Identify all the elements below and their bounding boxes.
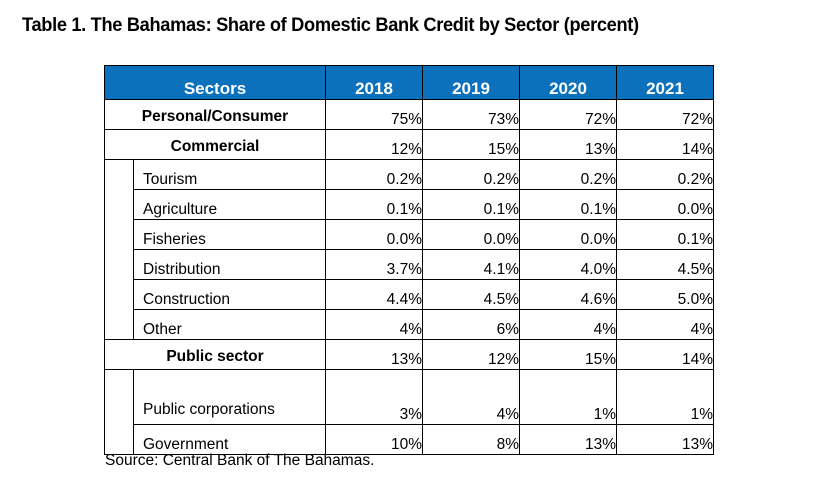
cell-other-2021: 4% (617, 310, 714, 340)
cell-government-2021: 13% (617, 425, 714, 455)
cell-public-corporations-2020: 1% (520, 370, 617, 425)
source-note: Source: Central Bank of The Bahamas. (105, 452, 374, 470)
cell-personal-consumer-2021: 72% (617, 100, 714, 130)
table-row: Public sector 13% 12% 15% 14% (105, 340, 714, 370)
table-row: Public corporations 3% 4% 1% 1% (105, 370, 714, 425)
cell-government-2019: 8% (423, 425, 520, 455)
cell-government-2018: 10% (326, 425, 423, 455)
table-row: Tourism 0.2% 0.2% 0.2% 0.2% (105, 160, 714, 190)
row-label-commercial: Commercial (105, 130, 326, 160)
row-label-fisheries: Fisheries (134, 220, 326, 250)
cell-agriculture-2020: 0.1% (520, 190, 617, 220)
cell-other-2019: 6% (423, 310, 520, 340)
cell-public-sector-2020: 15% (520, 340, 617, 370)
row-label-distribution: Distribution (134, 250, 326, 280)
cell-tourism-2019: 0.2% (423, 160, 520, 190)
column-header-2018: 2018 (326, 66, 423, 100)
cell-personal-consumer-2020: 72% (520, 100, 617, 130)
row-label-personal-consumer: Personal/Consumer (105, 100, 326, 130)
cell-construction-2019: 4.5% (423, 280, 520, 310)
cell-commercial-2020: 13% (520, 130, 617, 160)
cell-fisheries-2019: 0.0% (423, 220, 520, 250)
row-label-government: Government (134, 425, 326, 455)
commercial-indent-spacer (105, 160, 134, 340)
cell-commercial-2019: 15% (423, 130, 520, 160)
cell-tourism-2020: 0.2% (520, 160, 617, 190)
table-body: Personal/Consumer 75% 73% 72% 72% Commer… (105, 100, 714, 455)
credit-table-container: Sectors 2018 2019 2020 2021 Personal/Con… (104, 65, 713, 455)
cell-construction-2021: 5.0% (617, 280, 714, 310)
cell-distribution-2019: 4.1% (423, 250, 520, 280)
table-row: Commercial 12% 15% 13% 14% (105, 130, 714, 160)
cell-public-sector-2021: 14% (617, 340, 714, 370)
table-header: Sectors 2018 2019 2020 2021 (105, 66, 714, 100)
cell-fisheries-2018: 0.0% (326, 220, 423, 250)
cell-tourism-2018: 0.2% (326, 160, 423, 190)
cell-distribution-2020: 4.0% (520, 250, 617, 280)
cell-distribution-2021: 4.5% (617, 250, 714, 280)
cell-commercial-2021: 14% (617, 130, 714, 160)
header-row: Sectors 2018 2019 2020 2021 (105, 66, 714, 100)
cell-public-corporations-2018: 3% (326, 370, 423, 425)
public-sector-indent-spacer (105, 370, 134, 455)
column-header-2019: 2019 (423, 66, 520, 100)
cell-distribution-2018: 3.7% (326, 250, 423, 280)
cell-agriculture-2019: 0.1% (423, 190, 520, 220)
cell-fisheries-2020: 0.0% (520, 220, 617, 250)
cell-tourism-2021: 0.2% (617, 160, 714, 190)
row-label-agriculture: Agriculture (134, 190, 326, 220)
row-label-public-sector: Public sector (105, 340, 326, 370)
table-row: Personal/Consumer 75% 73% 72% 72% (105, 100, 714, 130)
row-label-other: Other (134, 310, 326, 340)
table-row: Agriculture 0.1% 0.1% 0.1% 0.0% (105, 190, 714, 220)
table-row: Fisheries 0.0% 0.0% 0.0% 0.1% (105, 220, 714, 250)
cell-public-sector-2018: 13% (326, 340, 423, 370)
table-row: Distribution 3.7% 4.1% 4.0% 4.5% (105, 250, 714, 280)
cell-public-sector-2019: 12% (423, 340, 520, 370)
table-row: Construction 4.4% 4.5% 4.6% 5.0% (105, 280, 714, 310)
cell-construction-2020: 4.6% (520, 280, 617, 310)
cell-agriculture-2018: 0.1% (326, 190, 423, 220)
cell-agriculture-2021: 0.0% (617, 190, 714, 220)
cell-fisheries-2021: 0.1% (617, 220, 714, 250)
table-row: Government 10% 8% 13% 13% (105, 425, 714, 455)
page-title: Table 1. The Bahamas: Share of Domestic … (22, 14, 639, 37)
cell-personal-consumer-2018: 75% (326, 100, 423, 130)
cell-personal-consumer-2019: 73% (423, 100, 520, 130)
column-header-2020: 2020 (520, 66, 617, 100)
row-label-public-corporations: Public corporations (134, 370, 326, 425)
cell-other-2018: 4% (326, 310, 423, 340)
table-row: Other 4% 6% 4% 4% (105, 310, 714, 340)
cell-public-corporations-2021: 1% (617, 370, 714, 425)
cell-government-2020: 13% (520, 425, 617, 455)
bank-credit-share-table: Sectors 2018 2019 2020 2021 Personal/Con… (104, 65, 714, 455)
cell-other-2020: 4% (520, 310, 617, 340)
cell-construction-2018: 4.4% (326, 280, 423, 310)
column-header-sectors: Sectors (105, 66, 326, 100)
row-label-construction: Construction (134, 280, 326, 310)
cell-public-corporations-2019: 4% (423, 370, 520, 425)
cell-commercial-2018: 12% (326, 130, 423, 160)
row-label-tourism: Tourism (134, 160, 326, 190)
column-header-2021: 2021 (617, 66, 714, 100)
